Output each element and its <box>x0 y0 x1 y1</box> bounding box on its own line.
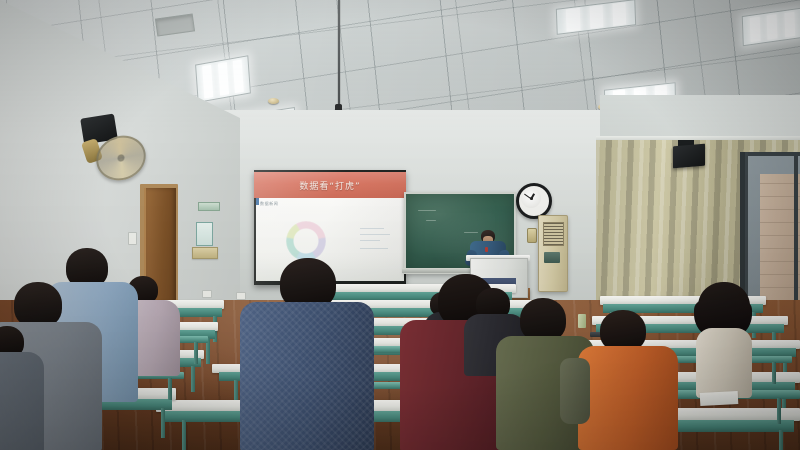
student-orange-arm <box>560 358 590 424</box>
air-conditioner-unit <box>538 215 568 292</box>
wall-plaque-gold <box>192 247 218 259</box>
slide-donut-chart <box>286 221 326 261</box>
paper-sheet[interactable] <box>700 391 739 406</box>
slide-text-line <box>360 234 390 235</box>
slide-title-text: 数据看“打虎” <box>299 179 360 192</box>
student-torso <box>578 346 678 450</box>
chalk-mark <box>418 210 436 211</box>
wall-outlet <box>202 290 212 298</box>
light-switch-plate[interactable] <box>128 232 137 245</box>
slide-title-bar: 数据看“打虎” <box>254 172 406 198</box>
drink-cup[interactable] <box>578 314 586 328</box>
clock-face <box>521 188 541 208</box>
wall-thermostat-icon[interactable] <box>527 228 537 243</box>
window-mullion <box>748 152 800 156</box>
ac-grille <box>543 222 564 246</box>
wall-sign-green <box>198 202 220 211</box>
student-torso <box>240 302 374 450</box>
student-torso <box>696 328 752 398</box>
student-torso <box>0 352 44 450</box>
presenter-badge <box>485 247 488 252</box>
slide-accent-mark <box>256 198 259 205</box>
clock-center-dot <box>530 197 533 200</box>
slide-subtitle-text: 数据新闻 <box>260 201 278 207</box>
wall-speaker-icon <box>673 144 705 169</box>
wall-clock <box>516 183 552 219</box>
chalk-mark <box>464 232 478 233</box>
projector-cable <box>338 0 340 108</box>
smoke-detector <box>268 98 279 104</box>
ac-control-panel[interactable] <box>544 252 560 263</box>
slide-text-line <box>360 228 384 229</box>
slide-text-line <box>360 248 388 249</box>
wall-outlet <box>236 292 246 300</box>
lecture-hall-photo: 数据看“打虎” 数据新闻 <box>0 0 800 450</box>
chalk-mark <box>426 220 436 221</box>
slide-text-line <box>360 240 380 241</box>
wall-notice-card <box>196 222 213 246</box>
